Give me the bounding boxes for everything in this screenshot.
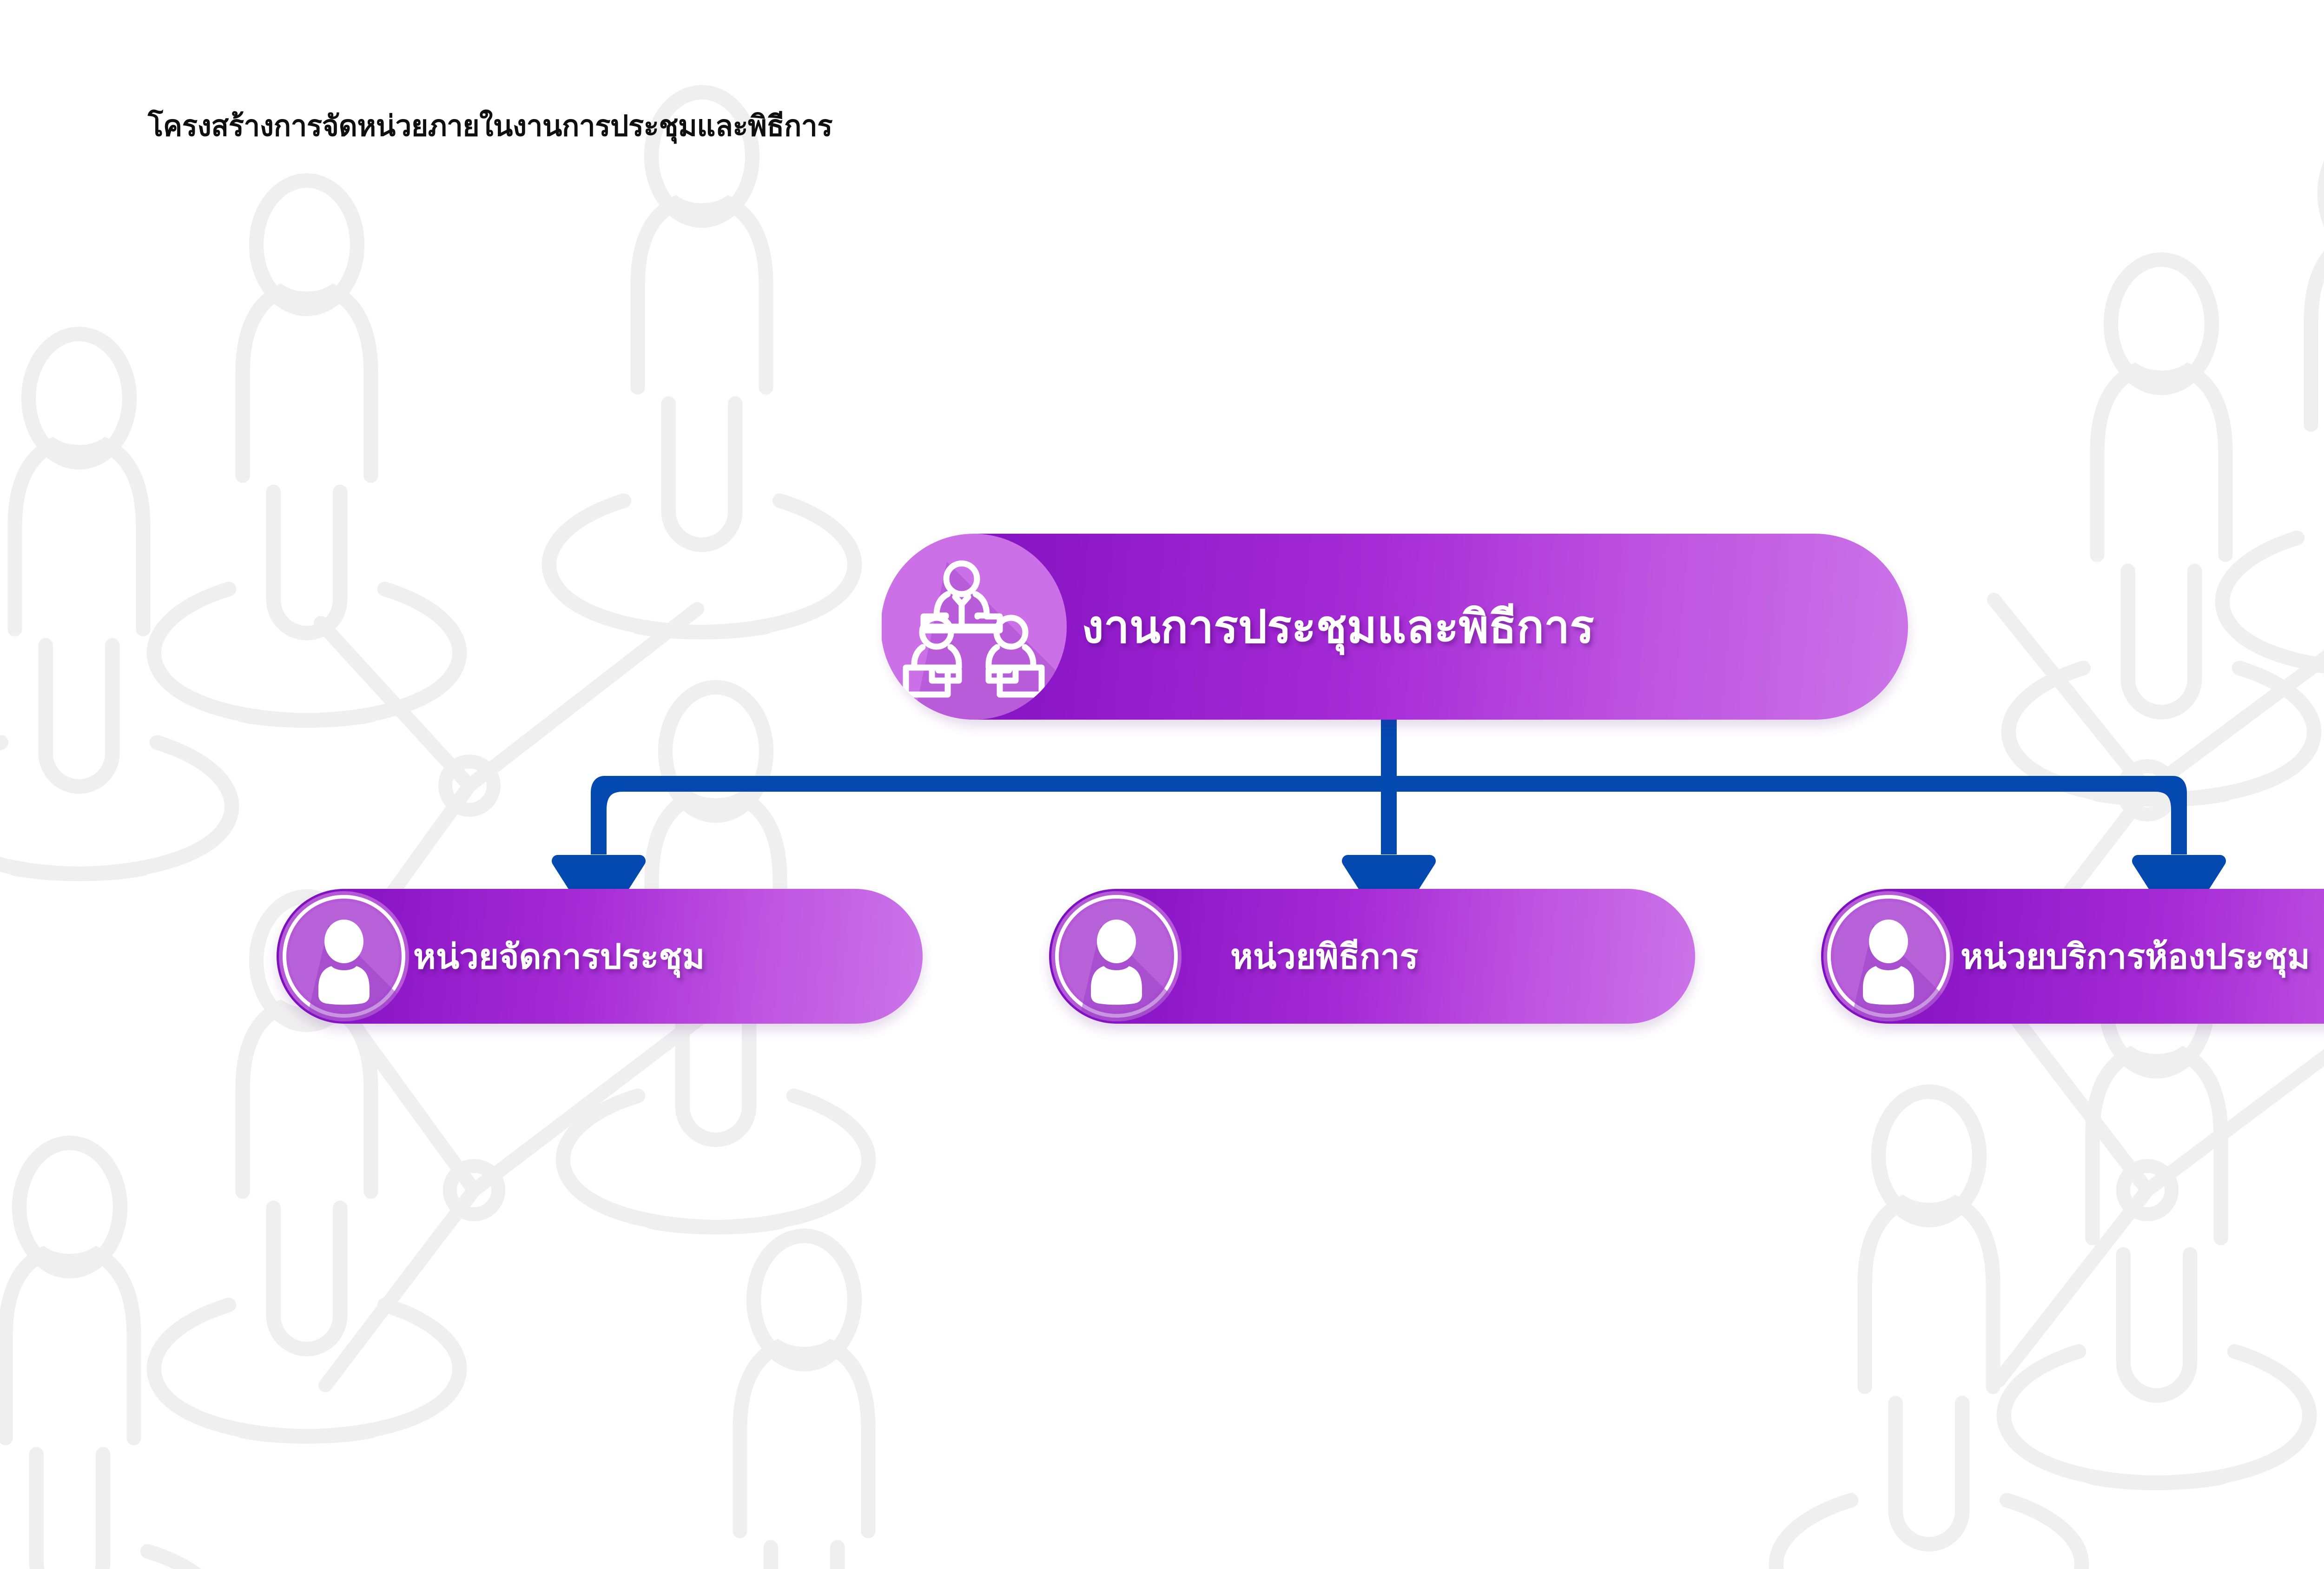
person-icon <box>1821 889 1956 1024</box>
edge-corner-right <box>2155 784 2179 810</box>
org-node-child-1-label: หน่วยพิธีการ <box>1230 929 1418 984</box>
slide-canvas: โครงสร้างการจัดหน่วยภายในงานการประชุมและ… <box>0 0 2324 1569</box>
page-title: โครงสร้างการจัดหน่วยภายในงานการประชุมและ… <box>148 103 832 149</box>
org-node-child-0-label: หน่วยจัดการประชุม <box>413 929 705 984</box>
org-node-child-1[interactable]: หน่วยพิธีการ <box>1049 889 1695 1024</box>
edge-drop-left <box>599 784 604 854</box>
org-node-root[interactable]: งานการประชุมและพิธีการ <box>885 534 1908 720</box>
edge-drop-right <box>2173 784 2179 854</box>
org-node-child-2-label: หน่วยบริการห้องประชุม <box>1961 929 2310 984</box>
org-node-child-2[interactable]: หน่วยบริการห้องประชุม <box>1821 889 2324 1024</box>
person-icon <box>1049 889 1184 1024</box>
meeting-people-icon <box>882 534 1077 720</box>
person-icon <box>277 889 411 1024</box>
connector-lines <box>0 0 2324 1569</box>
org-node-root-label: งานการประชุมและพิธีการ <box>1082 590 1594 663</box>
edge-corner-left <box>599 784 623 810</box>
org-node-child-0[interactable]: หน่วยจัดการประชุม <box>277 889 923 1024</box>
background-watermark <box>0 0 2324 1569</box>
